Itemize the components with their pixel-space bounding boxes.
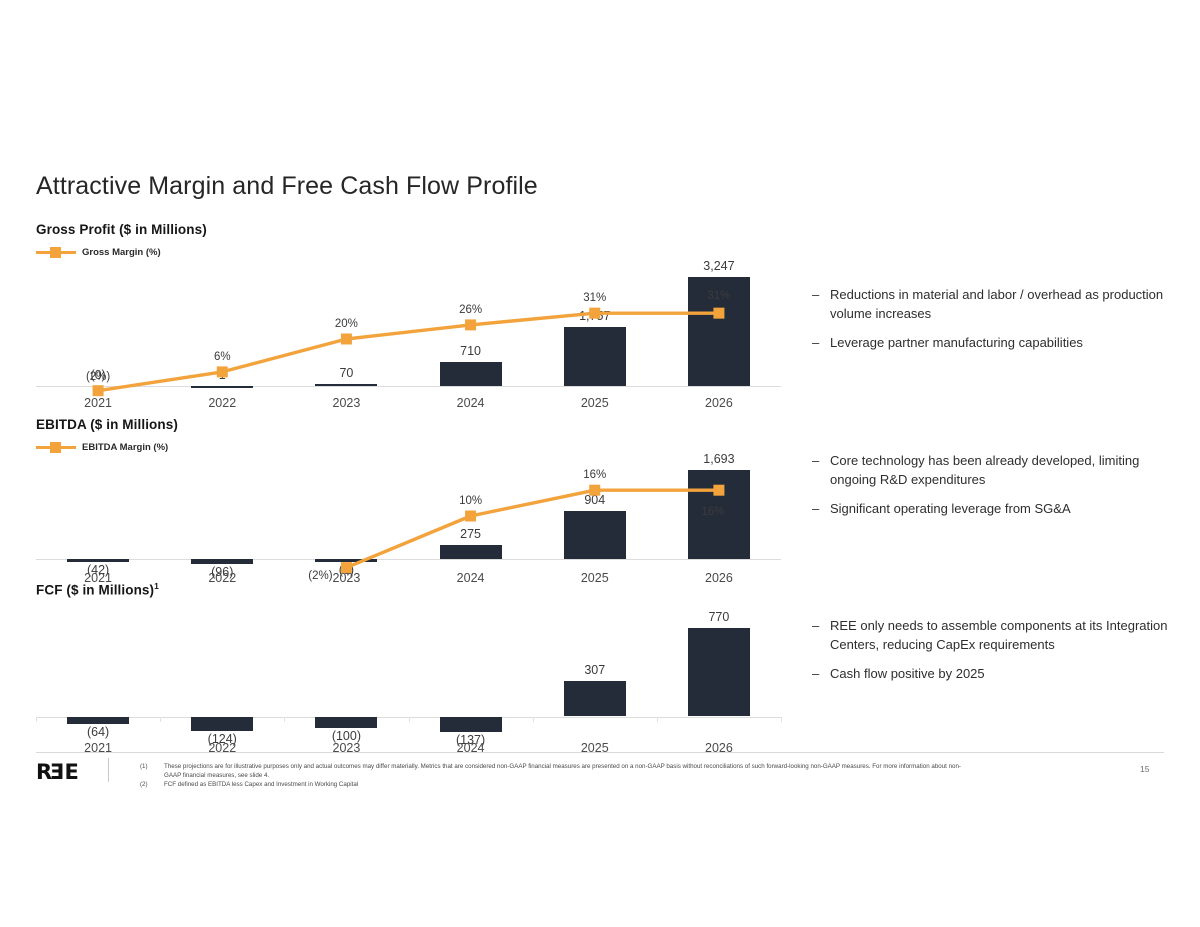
legend-label-gross-margin: Gross Margin (%) (82, 247, 161, 258)
axis-tick (657, 717, 658, 722)
line-marker (713, 308, 724, 319)
margin-pct-label: 20% (286, 318, 406, 330)
bullet-dash-icon: – (812, 452, 830, 489)
chart-bar (315, 717, 377, 728)
section-gross-profit: Gross Profit ($ in Millions) Gross Margi… (36, 222, 781, 426)
axis-tick (409, 717, 410, 722)
bar-value-label: (64) (38, 725, 158, 739)
footnote-marker: 1 (154, 581, 159, 591)
footnote-2: (2) FCF defined as EBITDA less Capex and… (140, 781, 964, 790)
line-marker (217, 366, 228, 377)
bullet-text: Reductions in material and labor / overh… (830, 286, 1170, 323)
legend-gross-margin: Gross Margin (%) (36, 246, 781, 258)
margin-pct-label: 10% (411, 495, 531, 507)
footnote-1: (1) These projections are for illustrati… (140, 763, 964, 780)
margin-pct-label: 16% (535, 469, 655, 481)
section-ebitda: EBITDA ($ in Millions) EBITDA Margin (%)… (36, 417, 781, 599)
logo-char-e-mirrored: E (51, 760, 64, 784)
footnote-number: (2) (140, 781, 164, 790)
bullet-item: – Reductions in material and labor / ove… (812, 286, 1170, 323)
axis-tick (36, 717, 37, 722)
bullets-gross-profit: – Reductions in material and labor / ove… (812, 286, 1170, 364)
axis-tick (284, 717, 285, 722)
bullet-dash-icon: – (812, 617, 830, 654)
chart-bar (191, 717, 253, 731)
line-marker (713, 485, 724, 496)
axis-tick (533, 717, 534, 722)
bullet-item: – REE only needs to assemble components … (812, 617, 1170, 654)
section-title-ebitda: EBITDA ($ in Millions) (36, 417, 781, 432)
bullet-dash-icon: – (812, 286, 830, 323)
page-title: Attractive Margin and Free Cash Flow Pro… (36, 172, 538, 201)
bullet-text: Core technology has been already develop… (830, 452, 1170, 489)
margin-line-series (36, 264, 781, 426)
legend-marker-icon (36, 247, 76, 258)
section-title-gross-profit: Gross Profit ($ in Millions) (36, 222, 781, 237)
footnote-number: (1) (140, 763, 164, 780)
bullet-dash-icon: – (812, 500, 830, 519)
legend-marker-icon (36, 442, 76, 453)
margin-pct-label: 31% (659, 290, 779, 302)
section-title-fcf-text: FCF ($ in Millions) (36, 583, 154, 598)
margin-pct-label: (2%) (260, 570, 380, 582)
slide-canvas: Attractive Margin and Free Cash Flow Pro… (0, 0, 1200, 927)
axis-tick (781, 717, 782, 722)
margin-pct-label: 6% (162, 351, 282, 363)
legend-label-ebitda-margin: EBITDA Margin (%) (82, 442, 168, 453)
page-number: 15 (1140, 764, 1149, 774)
line-marker (465, 511, 476, 522)
bullet-text: Cash flow positive by 2025 (830, 665, 985, 684)
chart-bar (688, 628, 750, 716)
bullet-text: Leverage partner manufacturing capabilit… (830, 334, 1083, 353)
footnote-text: FCF defined as EBITDA less Capex and Inv… (164, 781, 964, 790)
bullets-fcf: – REE only needs to assemble components … (812, 617, 1170, 695)
footer-logo-divider (108, 758, 109, 782)
bar-value-label: 770 (659, 610, 779, 624)
ree-logo: REE (36, 760, 78, 784)
footnote-text: These projections are for illustrative p… (164, 763, 964, 780)
footer-divider (36, 752, 1164, 753)
bullet-item: – Significant operating leverage from SG… (812, 500, 1170, 519)
bullet-item: – Core technology has been already devel… (812, 452, 1170, 489)
margin-pct-label: 26% (411, 304, 531, 316)
bullet-dash-icon: – (812, 334, 830, 353)
margin-pct-label: 31% (535, 292, 655, 304)
margin-pct-label: (2%) (38, 371, 158, 383)
section-fcf: FCF ($ in Millions)1 (64)2021(124)2022(1… (36, 581, 781, 744)
chart-bar (564, 681, 626, 716)
bullet-item: – Cash flow positive by 2025 (812, 665, 1170, 684)
line-marker (589, 308, 600, 319)
chart-bar (67, 717, 129, 724)
chart-ebitda: (42)2021(96)2022(6)2023275202490420251,6… (36, 459, 781, 599)
line-marker (93, 385, 104, 396)
chart-gross-profit: (0)20211202270202371020241,75720253,2472… (36, 264, 781, 426)
bullet-item: – Leverage partner manufacturing capabil… (812, 334, 1170, 353)
section-title-fcf: FCF ($ in Millions)1 (36, 581, 781, 598)
logo-char-r: R (36, 760, 51, 784)
bullet-dash-icon: – (812, 665, 830, 684)
chart-bar (440, 717, 502, 733)
margin-pct-label: 16% (653, 506, 773, 518)
margin-line-series (36, 459, 781, 599)
line-marker (465, 319, 476, 330)
bullets-ebitda: – Core technology has been already devel… (812, 452, 1170, 530)
bullet-text: REE only needs to assemble components at… (830, 617, 1170, 654)
axis-tick (160, 717, 161, 722)
line-marker (589, 485, 600, 496)
line-marker (341, 334, 352, 345)
chart-fcf: (64)2021(124)2022(100)2023(137)202430720… (36, 614, 781, 744)
logo-char-e: E (65, 760, 78, 784)
bar-value-label: 307 (535, 663, 655, 677)
bullet-text: Significant operating leverage from SG&A (830, 500, 1071, 519)
